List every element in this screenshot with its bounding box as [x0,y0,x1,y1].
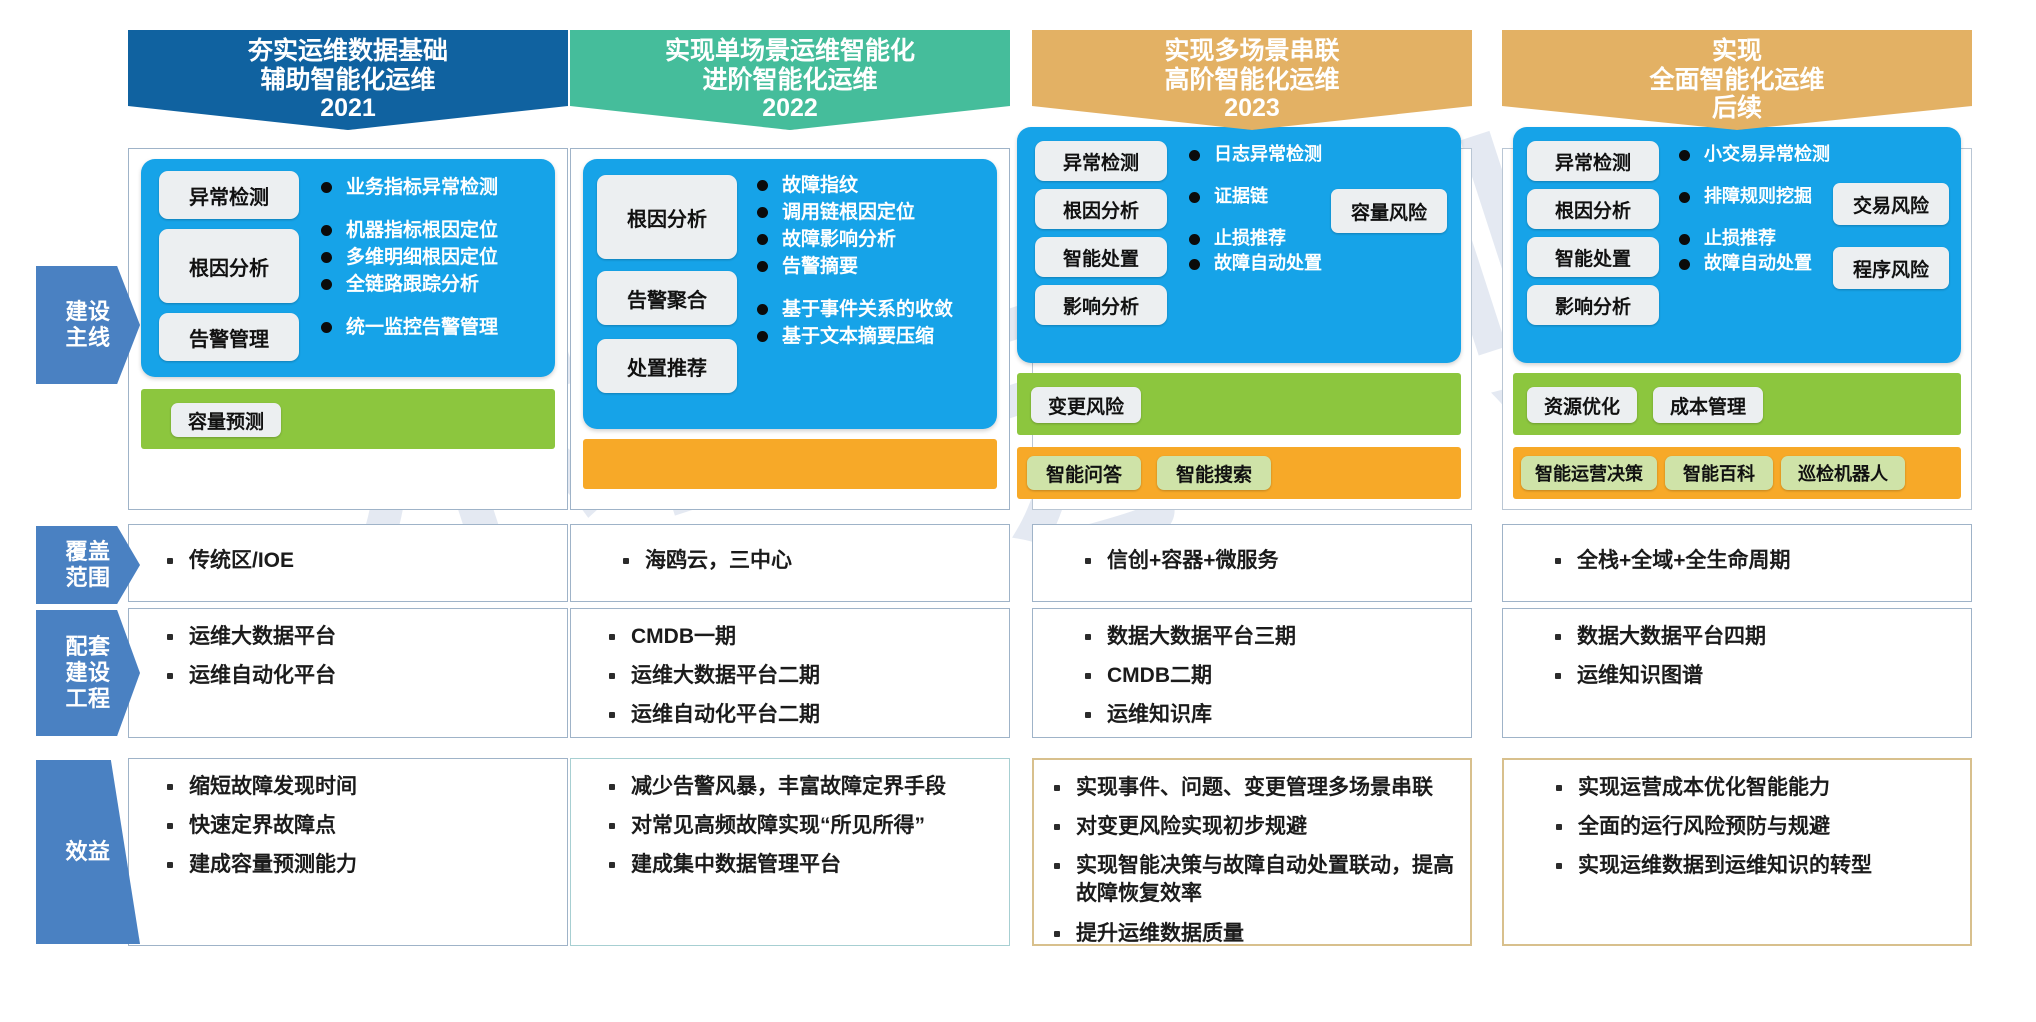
list-item: CMDB二期 [1107,662,1461,690]
scope-list: 传统区/IOE [129,525,567,596]
header-line-1: 实现 [1712,37,1762,66]
bullet-dot [321,182,332,193]
capability-band-blue: 异常检测 根因分析 智能处置 影响分析 日志异常检测 证据链 止损推荐 故障自动… [1017,127,1461,363]
list-item: 实现运营成本优化智能能力 [1578,774,1960,802]
capability-band-blue: 根因分析 告警聚合 处置推荐 故障指纹 调用链根因定位 故障影响分析 告警摘要 … [583,159,997,429]
bullet-dot [1189,150,1200,161]
capability-band-green: 容量预测 [141,389,555,449]
projects-list: 数据大数据平台四期 运维知识图谱 [1503,609,1971,711]
benefits-cell-2023: 实现事件、问题、变更管理多场景串联 对变更风险实现初步规避 实现智能决策与故障自… [1032,758,1472,946]
benefits-list: 缩短故障发现时间 快速定界故障点 建成容量预测能力 [129,759,567,900]
projects-list: 数据大数据平台三期 CMDB二期 运维知识库 [1033,609,1471,750]
header-line-2: 全面智能化运维 [1649,66,1824,95]
chip-intelligent-qa[interactable]: 智能问答 [1027,456,1141,490]
row-label-benefits: 效益 [36,760,140,944]
bullet-dot [321,225,332,236]
bullet-item: 止损推荐 [1189,227,1322,251]
bullet-dot [1189,192,1200,203]
column-header-2022: 实现单场景运维智能化 进阶智能化运维 2022 [570,30,1010,130]
chip-intelligent-operation-decision[interactable]: 智能运营决策 [1521,456,1657,490]
row-label-line-1: 效益 [65,839,110,865]
bullet-item: 业务指标异常检测 [321,175,498,200]
benefits-list: 减少告警风暴，丰富故障定界手段 对常见高频故障实现“所见所得” 建成集中数据管理… [571,759,1009,900]
bullet-dot [321,279,332,290]
capability-band-blue: 异常检测 根因分析 智能处置 影响分析 小交易异常检测 排障规则挖掘 止损推荐 … [1513,127,1961,363]
row-label-line-1: 配套 [65,634,110,660]
bullet-dot [757,234,768,245]
chip-intelligent-encyclopedia[interactable]: 智能百科 [1665,456,1773,490]
capsule-anomaly-detection[interactable]: 异常检测 [1527,141,1659,181]
bullet-item: 证据链 [1189,185,1322,209]
main-cell-future: 异常检测 根因分析 智能处置 影响分析 小交易异常检测 排障规则挖掘 止损推荐 … [1502,148,1972,510]
capsule-handling-recommendation[interactable]: 处置推荐 [597,339,737,393]
chip-program-risk[interactable]: 程序风险 [1833,247,1949,289]
list-item: 缩短故障发现时间 [189,773,557,801]
projects-cell-2023: 数据大数据平台三期 CMDB二期 运维知识库 [1032,608,1472,738]
scope-list: 全栈+全域+全生命周期 [1503,525,1971,596]
bullet-dot [1679,234,1690,245]
main-cell-2023: 异常检测 根因分析 智能处置 影响分析 日志异常检测 证据链 止损推荐 故障自动… [1032,148,1472,510]
list-item: 全栈+全域+全生命周期 [1577,547,1961,575]
bullet-item: 排障规则挖掘 [1679,185,1830,209]
projects-cell-future: 数据大数据平台四期 运维知识图谱 [1502,608,1972,738]
scope-list: 信创+容器+微服务 [1033,525,1471,596]
bullet-item: 小交易异常检测 [1679,143,1830,167]
capability-band-blue: 异常检测 根因分析 告警管理 业务指标异常检测 机器指标根因定位 多维明细根因定… [141,159,555,377]
capability-band-orange: 智能运营决策 智能百科 巡检机器人 [1513,447,1961,499]
benefits-cell-2022: 减少告警风暴，丰富故障定界手段 对常见高频故障实现“所见所得” 建成集中数据管理… [570,758,1010,946]
list-item: 运维大数据平台 [189,623,557,651]
benefits-cell-2021: 缩短故障发现时间 快速定界故障点 建成容量预测能力 [128,758,568,946]
capsule-root-cause[interactable]: 根因分析 [159,229,299,303]
bullet-item: 止损推荐 [1679,227,1830,251]
column-header-future: 实现 全面智能化运维 后续 [1502,30,1972,130]
list-item: 对变更风险实现初步规避 [1076,813,1460,841]
bullet-list: 小交易异常检测 排障规则挖掘 止损推荐 故障自动处置 [1679,143,1830,278]
projects-list: CMDB一期 运维大数据平台二期 运维自动化平台二期 [571,609,1009,750]
bullet-dot [321,252,332,263]
projects-cell-2022: CMDB一期 运维大数据平台二期 运维自动化平台二期 [570,608,1010,738]
list-item: 提升运维数据质量 [1076,920,1460,948]
bullet-list: 日志异常检测 证据链 止损推荐 故障自动处置 [1189,143,1322,278]
row-label-line-2: 范围 [65,565,110,591]
bullet-dot [757,331,768,342]
column-header-2021: 夯实运维数据基础 辅助智能化运维 2021 [128,30,568,130]
benefits-list: 实现运营成本优化智能能力 全面的运行风险预防与规避 实现运维数据到运维知识的转型 [1504,760,1970,901]
list-item: 建成集中数据管理平台 [631,851,999,879]
header-year: 2023 [1224,94,1280,123]
bullet-item: 日志异常检测 [1189,143,1322,167]
list-item: CMDB一期 [631,623,999,651]
list-item: 全面的运行风险预防与规避 [1578,813,1960,841]
capability-band-orange: 智能问答 智能搜索 [1017,447,1461,499]
list-item: 快速定界故障点 [189,812,557,840]
bullet-dot [1189,234,1200,245]
capsule-root-cause[interactable]: 根因分析 [597,175,737,259]
bullet-item: 多维明细根因定位 [321,245,498,270]
header-line-1: 实现多场景串联 [1164,37,1339,66]
header-line-1: 夯实运维数据基础 [248,37,448,66]
list-item: 数据大数据平台四期 [1577,623,1961,651]
capsule-anomaly-detection[interactable]: 异常检测 [159,171,299,219]
roadmap-diagram: 示例 示例 夯实运维数据基础 辅助智能化运维 2021 实现单场景运维智能化 进… [0,0,2036,1022]
bullet-item: 故障指纹 [757,173,953,198]
list-item: 信创+容器+微服务 [1107,547,1461,575]
capsule-alarm-management[interactable]: 告警管理 [159,313,299,361]
header-line-2: 辅助智能化运维 [260,66,435,95]
row-label-line-3: 工程 [65,686,110,712]
bullet-dot [1679,259,1690,270]
row-label-projects: 配套 建设 工程 [36,610,140,736]
bullet-item: 故障影响分析 [757,227,953,252]
bullet-item: 基于文本摘要压缩 [757,324,953,349]
row-label-line-2: 主线 [65,325,110,351]
benefits-list: 实现事件、问题、变更管理多场景串联 对变更风险实现初步规避 实现智能决策与故障自… [1034,760,1470,969]
list-item: 实现运维数据到运维知识的转型 [1578,852,1960,880]
list-item: 运维自动化平台二期 [631,701,999,729]
bullet-item: 机器指标根因定位 [321,218,498,243]
bullet-item: 全链路跟踪分析 [321,272,498,297]
list-item: 实现事件、问题、变更管理多场景串联 [1076,774,1460,802]
header-line-1: 实现单场景运维智能化 [665,37,915,66]
bullet-item: 基于事件关系的收敛 [757,297,953,322]
header-line-2: 进阶智能化运维 [702,66,877,95]
bullet-item: 告警摘要 [757,254,953,279]
list-item: 对常见高频故障实现“所见所得” [631,812,999,840]
bullet-dot [757,180,768,191]
list-item: 运维自动化平台 [189,662,557,690]
bullet-list: 故障指纹 调用链根因定位 故障影响分析 告警摘要 基于事件关系的收敛 基于文本摘… [757,173,953,351]
chip-transaction-risk[interactable]: 交易风险 [1833,183,1949,225]
chip-capacity-forecast[interactable]: 容量预测 [171,403,281,437]
header-year: 2022 [762,94,818,123]
capsule-impact-analysis[interactable]: 影响分析 [1527,285,1659,325]
list-item: 实现智能决策与故障自动处置联动，提高故障恢复效率 [1076,852,1460,908]
bullet-dot [321,322,332,333]
scope-list: 海鸥云，三中心 [571,525,1009,596]
column-header-2023: 实现多场景串联 高阶智能化运维 2023 [1032,30,1472,130]
capability-band-green: 变更风险 [1017,373,1461,435]
capability-band-green: 资源优化 成本管理 [1513,373,1961,435]
chip-capacity-risk[interactable]: 容量风险 [1331,189,1447,233]
row-label-main: 建设 主线 [36,266,140,384]
bullet-item: 故障自动处置 [1679,252,1830,276]
bullet-item: 调用链根因定位 [757,200,953,225]
header-year: 后续 [1712,94,1762,123]
list-item: 海鸥云，三中心 [645,547,999,575]
list-item: 建成容量预测能力 [189,851,557,879]
bullet-dot [757,207,768,218]
column-headers: 夯实运维数据基础 辅助智能化运维 2021 实现单场景运维智能化 进阶智能化运维… [0,30,2036,130]
row-label-line-2: 建设 [65,660,110,686]
bullet-dot [1679,192,1690,203]
list-item: 减少告警风暴，丰富故障定界手段 [631,773,999,801]
bullet-list: 业务指标异常检测 机器指标根因定位 多维明细根因定位 全链路跟踪分析 统一监控告… [321,175,498,342]
list-item: 运维知识图谱 [1577,662,1961,690]
capsule-intelligent-handling[interactable]: 智能处置 [1035,237,1167,277]
chip-change-risk[interactable]: 变更风险 [1031,387,1141,423]
bullet-dot [757,304,768,315]
scope-cell-future: 全栈+全域+全生命周期 [1502,524,1972,602]
main-cell-2021: 异常检测 根因分析 告警管理 业务指标异常检测 机器指标根因定位 多维明细根因定… [128,148,568,510]
row-label-line-1: 覆盖 [65,539,110,565]
list-item: 运维知识库 [1107,701,1461,729]
chip-resource-optimization[interactable]: 资源优化 [1527,387,1637,423]
bullet-item: 统一监控告警管理 [321,315,498,340]
header-year: 2021 [320,94,376,123]
capsule-intelligent-handling[interactable]: 智能处置 [1527,237,1659,277]
capsule-root-cause[interactable]: 根因分析 [1527,189,1659,229]
list-item: 数据大数据平台三期 [1107,623,1461,651]
main-cell-2022: 根因分析 告警聚合 处置推荐 故障指纹 调用链根因定位 故障影响分析 告警摘要 … [570,148,1010,510]
row-label-scope: 覆盖 范围 [36,526,140,604]
bullet-item: 故障自动处置 [1189,252,1322,276]
benefits-cell-future: 实现运营成本优化智能能力 全面的运行风险预防与规避 实现运维数据到运维知识的转型 [1502,758,1972,946]
bullet-dot [1679,150,1690,161]
capsule-root-cause[interactable]: 根因分析 [1035,189,1167,229]
scope-cell-2023: 信创+容器+微服务 [1032,524,1472,602]
scope-cell-2022: 海鸥云，三中心 [570,524,1010,602]
list-item: 运维大数据平台二期 [631,662,999,690]
capsule-alarm-aggregation[interactable]: 告警聚合 [597,271,737,325]
capsule-impact-analysis[interactable]: 影响分析 [1035,285,1167,325]
header-line-2: 高阶智能化运维 [1164,66,1339,95]
projects-cell-2021: 运维大数据平台 运维自动化平台 [128,608,568,738]
row-label-line-1: 建设 [65,299,110,325]
bullet-dot [1189,259,1200,270]
chip-cost-management[interactable]: 成本管理 [1653,387,1763,423]
list-item: 传统区/IOE [189,547,557,575]
chip-inspection-robot[interactable]: 巡检机器人 [1781,456,1905,490]
bullet-dot [757,261,768,272]
capsule-anomaly-detection[interactable]: 异常检测 [1035,141,1167,181]
capability-band-orange [583,439,997,489]
chip-intelligent-search[interactable]: 智能搜索 [1157,456,1271,490]
scope-cell-2021: 传统区/IOE [128,524,568,602]
projects-list: 运维大数据平台 运维自动化平台 [129,609,567,711]
